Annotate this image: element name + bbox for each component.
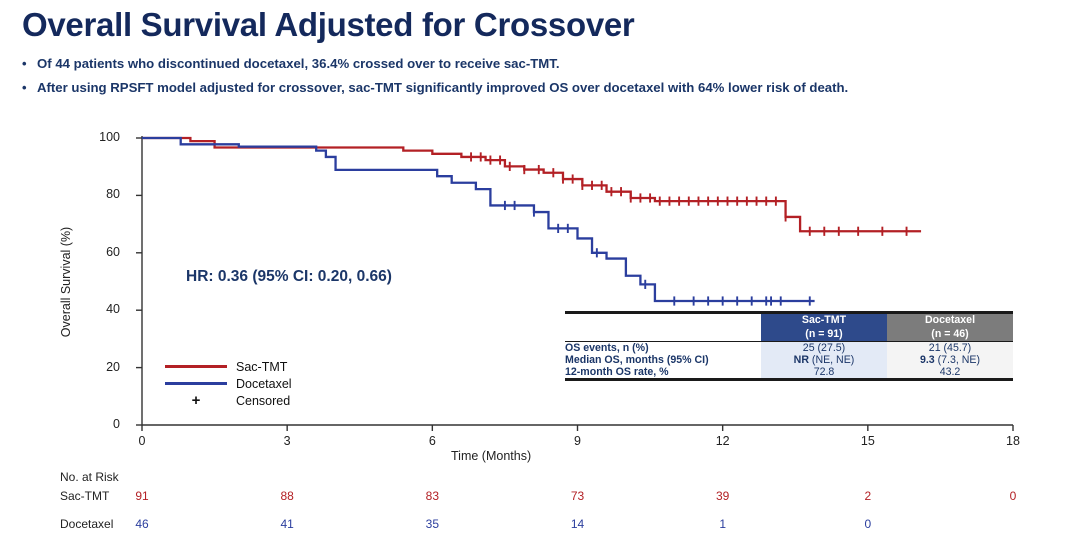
- slide-root: Overall Survival Adjusted for Crossover …: [0, 0, 1080, 539]
- risk-value: 73: [571, 489, 584, 503]
- risk-value: 41: [280, 517, 293, 531]
- risk-value: 0: [864, 517, 871, 531]
- risk-value: 91: [135, 489, 148, 503]
- risk-table-heading: No. at Risk: [60, 470, 119, 484]
- risk-value: 88: [280, 489, 293, 503]
- risk-value: 2: [864, 489, 871, 503]
- risk-value: 46: [135, 517, 148, 531]
- risk-value: 1: [719, 517, 726, 531]
- risk-row-label: Sac-TMT: [60, 489, 109, 503]
- number-at-risk-table: No. at Risk Sac-TMT918883733920Docetaxel…: [0, 0, 1080, 539]
- risk-value: 0: [1010, 489, 1017, 503]
- risk-value: 39: [716, 489, 729, 503]
- risk-value: 14: [571, 517, 584, 531]
- risk-value: 83: [426, 489, 439, 503]
- risk-row-label: Docetaxel: [60, 517, 113, 531]
- risk-value: 35: [426, 517, 439, 531]
